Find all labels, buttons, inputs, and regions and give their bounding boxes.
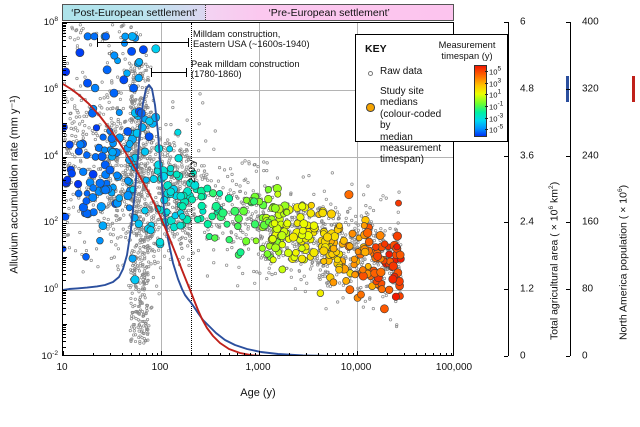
x-tickmark (161, 351, 162, 355)
x-tickmark (157, 353, 158, 356)
y-tickmark (63, 262, 66, 263)
x-tickmark (146, 353, 147, 356)
y-tickmark (63, 90, 67, 91)
y-tickmark (63, 157, 67, 158)
y-tickmark (63, 70, 66, 71)
colorbar-ticklabel: 10-3 (489, 112, 503, 123)
ytick-1e8: 108 (44, 16, 58, 28)
y-tickmark (63, 93, 66, 94)
x-tickmark (342, 353, 343, 356)
agri-tick-1-2: 1.2 (520, 284, 534, 295)
y-tickmark (63, 162, 66, 163)
legend-median-line1: Study site medians (380, 86, 442, 109)
y-tickmark (63, 141, 66, 142)
peak-milldam-line1: Peak milldam construction (191, 59, 300, 69)
y-tickmark (63, 324, 67, 325)
y-tickmark (63, 58, 66, 59)
y-tickmark (63, 97, 66, 98)
y-tickmark (63, 147, 66, 148)
y-tickmark (63, 195, 66, 196)
banner-divider (205, 5, 206, 20)
y-tickmark (63, 337, 66, 338)
xtick-100: 100 (152, 362, 169, 373)
y-tickmark (63, 160, 66, 161)
y-tickmark (63, 158, 66, 159)
y-tickmark (63, 180, 66, 181)
y-axis-left-title: Alluvium accumulation rate (mm y⁻¹) (8, 15, 21, 355)
y-tickmark (63, 193, 66, 194)
milldam-annotation: Milldam construction, Eastern USA (~1600… (193, 29, 310, 50)
pop-tick-320: 320 (582, 83, 599, 94)
colorbar-tickmark (485, 118, 488, 119)
legend-median-line2: (colour-coded by (380, 109, 442, 132)
y-tickmark (63, 64, 66, 65)
y-tickmark (63, 258, 66, 259)
colorbar-tickmark (485, 129, 488, 130)
peak-milldam-range-bar (151, 68, 187, 77)
ytick-1e0: 100 (44, 283, 58, 295)
y-tickmark (63, 270, 66, 271)
x-axis-title: Age (y) (62, 387, 454, 399)
legend-title: KEY (365, 43, 387, 55)
x-tickmark (335, 353, 336, 356)
y-tickmark (63, 229, 66, 230)
y-tickmark (63, 293, 66, 294)
agricultural-area-axis (508, 22, 509, 356)
y-tickmark (63, 207, 66, 208)
y-tickmark (63, 223, 67, 224)
population-color-swatch (632, 76, 635, 102)
y-tickmark (63, 290, 67, 291)
banner-post-label: ‘Post-European settlement’ (71, 7, 197, 19)
x-tickmark (433, 353, 434, 356)
colorbar-tickmark (485, 106, 488, 107)
xtick-10000: 10,000 (341, 362, 372, 373)
colorbar-tickmark (485, 94, 488, 95)
banner-pre-european: ‘Pre-European settlement’ (205, 5, 453, 20)
legend-median-marker (366, 103, 375, 112)
y-tickmark (63, 237, 66, 238)
y-tickmark (63, 174, 66, 175)
y-tickmark (63, 56, 67, 57)
x-tickmark (237, 353, 238, 356)
y-tickmark (63, 314, 66, 315)
y-tickmark (63, 292, 66, 293)
y-tickmark (63, 308, 66, 309)
legend-median-line4: measurement (380, 143, 442, 154)
pop-tick-240: 240 (582, 150, 599, 161)
y-tickmark (63, 331, 66, 332)
ytick-1e4: 104 (44, 150, 58, 162)
y-tickmark (63, 300, 66, 301)
y-tickmark (63, 334, 66, 335)
colorbar-title: Measurement timespan (y) (428, 40, 506, 61)
legend-median-label: Study site medians (colour-coded by medi… (380, 86, 442, 166)
y-tickmark (63, 46, 66, 47)
colorbar-gradient (474, 65, 487, 137)
x-tickmark (416, 353, 417, 356)
x-tickmark (289, 353, 290, 356)
milldam-range-bar (97, 38, 189, 47)
x-tickmark (353, 353, 354, 356)
x-tickmark (110, 353, 111, 356)
y-tickmark (63, 131, 66, 132)
x-tickmark (220, 353, 221, 356)
y-tickmark (63, 329, 66, 330)
y-tickmark (63, 66, 66, 67)
x-tickmark (425, 353, 426, 356)
y-tickmark (63, 327, 66, 328)
milldam-line1: Milldam construction, (193, 29, 310, 39)
y-tickmark (63, 197, 66, 198)
y-tickmark (63, 25, 66, 26)
agricultural-area-axis-title: Total agricultural area ( × 106 km2) (548, 182, 561, 340)
x-tickmark (259, 351, 260, 355)
pop-tick-400: 400 (582, 17, 599, 28)
x-tickmark (93, 353, 94, 356)
xtick-10: 10 (56, 362, 67, 373)
y-tickmark (63, 264, 66, 265)
y-tickmark (63, 341, 66, 342)
agri-tick-3-6: 3.6 (520, 150, 534, 161)
colorbar-ticklabel: 10-1 (489, 101, 503, 112)
x-tickmark (440, 353, 441, 356)
y-tickmark (63, 26, 66, 27)
two-hundred-year-label: 200 y (187, 160, 198, 183)
y-tickmark (63, 113, 66, 114)
legend-raw-data-marker (368, 71, 373, 76)
xtick-100000: 100,000 (436, 362, 472, 373)
agri-tick-4-8: 4.8 (520, 83, 534, 94)
x-tickmark (318, 353, 319, 356)
x-tickmark (255, 353, 256, 356)
y-tickmark (63, 36, 66, 37)
y-tickmark (63, 133, 66, 134)
y-tickmark (63, 200, 66, 201)
ytick-1e-2: 10-2 (42, 350, 58, 362)
x-tickmark (348, 353, 349, 356)
ytick-1e6: 106 (44, 83, 58, 95)
y-tickmark (63, 126, 66, 127)
colorbar-title-line1: Measurement (428, 40, 506, 51)
colorbar-tickmark (485, 71, 488, 72)
x-tickmark (327, 353, 328, 356)
y-tickmark (63, 123, 67, 124)
x-tickmark (229, 353, 230, 356)
colorbar-ticklabel: 10-5 (489, 124, 503, 135)
x-tickmark (139, 353, 140, 356)
peak-milldam-annotation: Peak milldam construction (1780-1860) (191, 59, 300, 80)
y-tickmark (63, 233, 66, 234)
y-tickmark (63, 247, 66, 248)
y-tickmark (63, 164, 66, 165)
y-tickmark (63, 225, 66, 226)
y-tickmark (63, 267, 66, 268)
x-tickmark (446, 353, 447, 356)
x-axis-bottom: 10 100 1,000 10,000 100,000 (0, 362, 640, 378)
x-tickmark (250, 353, 251, 356)
x-tickmark (404, 353, 405, 356)
x-tickmark (387, 353, 388, 356)
y-tickmark (63, 107, 66, 108)
x-tickmark (122, 353, 123, 356)
y-tickmark (63, 260, 66, 261)
x-tickmark (63, 351, 64, 355)
colorbar-tickmark (485, 83, 488, 84)
agri-tick-0: 0 (520, 351, 526, 362)
y-tickmark (63, 170, 66, 171)
figure-root: ‘Post-European settlement’ ‘Pre-European… (0, 0, 640, 427)
y-tickmark (63, 325, 66, 326)
y-tickmark (63, 125, 66, 126)
x-tickmark (451, 353, 452, 356)
x-tickmark (357, 351, 358, 355)
y-tickmark (63, 91, 66, 92)
x-tickmark (244, 353, 245, 356)
y-tickmark (63, 80, 66, 81)
settlement-banner: ‘Post-European settlement’ ‘Pre-European… (62, 4, 454, 21)
y-tickmark (63, 103, 66, 104)
y-tickmark (63, 227, 66, 228)
y-tickmark (63, 203, 66, 204)
ytick-1e2: 102 (44, 216, 58, 228)
x-tickmark (131, 353, 132, 356)
x-tickmark (306, 353, 307, 356)
agri-tick-6: 6 (520, 17, 526, 28)
y-tickmark (63, 192, 66, 193)
y-tickmark (63, 100, 66, 101)
population-axis-title: North America population ( × 106) (617, 185, 630, 340)
y-tickmark (63, 295, 66, 296)
y-tickmark (63, 190, 67, 191)
y-tickmark (63, 231, 66, 232)
colorbar-ticklabel: 101 (489, 89, 501, 100)
y-tickmark (63, 30, 66, 31)
banner-pre-label: ‘Pre-European settlement’ (268, 7, 389, 19)
colorbar-title-line2: timespan (y) (428, 51, 506, 62)
x-tickmark (208, 353, 209, 356)
legend-raw-data-label: Raw data (380, 66, 422, 77)
y-tickmark (63, 95, 66, 96)
pop-tick-80: 80 (582, 284, 593, 295)
legend-median-line5: timespan) (380, 154, 442, 165)
y-tickmark (63, 62, 66, 63)
y-tickmark (63, 167, 66, 168)
agri-tick-2-4: 2.4 (520, 217, 534, 228)
colorbar-ticklabel: 105 (489, 66, 501, 77)
y-tickmark (63, 23, 67, 24)
population-axis (570, 22, 571, 356)
milldam-line2: Eastern USA (~1600s-1940) (193, 39, 310, 49)
y-tickmark (63, 274, 66, 275)
y-tickmark (63, 74, 66, 75)
y-tickmark (63, 136, 66, 137)
pop-tick-160: 160 (582, 217, 599, 228)
pop-tick-0: 0 (582, 351, 588, 362)
y-tickmark (63, 40, 66, 41)
colorbar-ticklabel: 103 (489, 77, 501, 88)
y-tickmark (63, 213, 66, 214)
x-tickmark (191, 353, 192, 356)
banner-post-european: ‘Post-European settlement’ (63, 5, 205, 20)
y-tickmark (63, 280, 66, 281)
y-tickmark (63, 257, 67, 258)
y-tickmark (63, 28, 66, 29)
x-tickmark (152, 353, 153, 356)
y-tickmark (63, 128, 66, 129)
y-tickmark (63, 241, 66, 242)
y-tickmark (63, 347, 66, 348)
y-tickmark (63, 60, 66, 61)
legend-key: KEY Measurement timespan (y) Raw data St… (355, 34, 508, 142)
peak-milldam-line2: (1780-1860) (191, 69, 300, 79)
y-tickmark (63, 303, 66, 304)
legend-median-line3: median (380, 132, 442, 143)
y-tickmark (63, 298, 66, 299)
xtick-1000: 1,000 (245, 362, 270, 373)
y-tickmark (63, 33, 66, 34)
